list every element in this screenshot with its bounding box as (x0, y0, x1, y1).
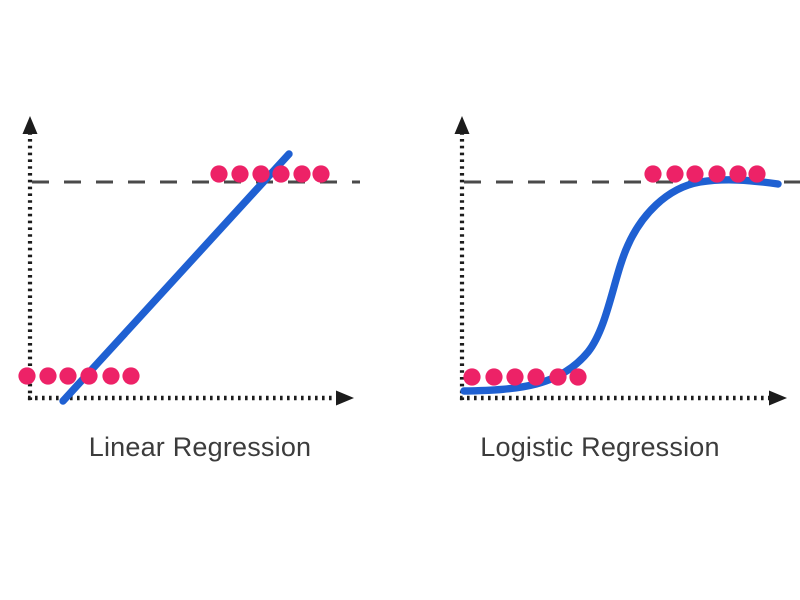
data-point (644, 165, 661, 182)
data-point (729, 165, 746, 182)
linear-fit-line (63, 154, 289, 401)
data-point (549, 368, 566, 385)
figure-canvas: Linear Regression (0, 0, 800, 600)
data-point (463, 368, 480, 385)
logistic-fit-curve (464, 180, 778, 391)
data-point (312, 165, 329, 182)
data-point (231, 165, 248, 182)
data-point (506, 368, 523, 385)
data-point (686, 165, 703, 182)
x-axis-logistic (460, 391, 787, 406)
y-axis-linear (23, 116, 38, 400)
data-point (252, 165, 269, 182)
data-point (18, 367, 35, 384)
data-point (293, 165, 310, 182)
data-point (210, 165, 227, 182)
chart-panel-logistic-regression: Logistic Regression (400, 0, 800, 600)
data-point (272, 165, 289, 182)
data-point (122, 367, 139, 384)
data-point (80, 367, 97, 384)
x-axis-linear (28, 391, 354, 406)
y-axis-logistic (455, 116, 470, 400)
y-axis-arrowhead-icon (23, 116, 38, 134)
data-point (748, 165, 765, 182)
data-point (666, 165, 683, 182)
data-point (708, 165, 725, 182)
x-axis-arrowhead-icon (336, 391, 354, 406)
logistic-regression-plot (400, 0, 800, 430)
data-point (527, 368, 544, 385)
data-point (485, 368, 502, 385)
data-point (569, 368, 586, 385)
y-axis-arrowhead-icon (455, 116, 470, 134)
chart-panel-linear-regression: Linear Regression (0, 0, 400, 600)
linear-regression-plot (0, 0, 400, 430)
data-point (39, 367, 56, 384)
x-axis-arrowhead-icon (769, 391, 787, 406)
chart-caption-linear-regression: Linear Regression (0, 432, 438, 463)
data-point (59, 367, 76, 384)
data-point (102, 367, 119, 384)
chart-caption-logistic-regression: Logistic Regression (400, 432, 800, 463)
